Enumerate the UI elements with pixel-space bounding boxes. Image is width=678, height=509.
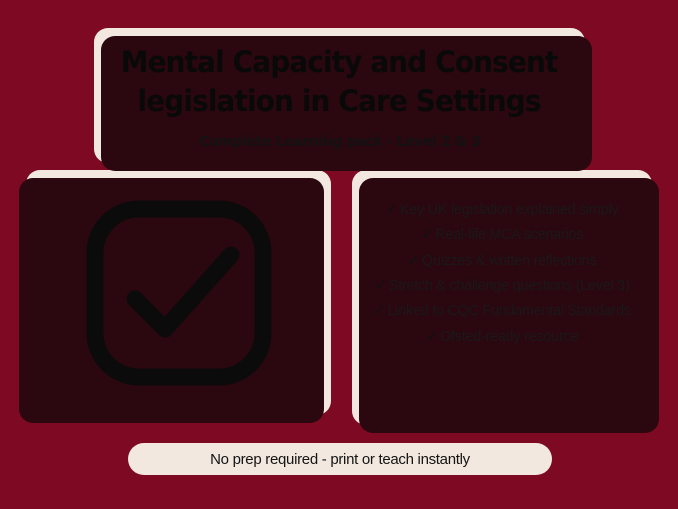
icon-card	[26, 170, 331, 415]
list-item-label: Stretch & challenge questions (Level 3)	[389, 278, 630, 294]
list-item: ✓Key UK legislation explained simply	[366, 198, 638, 221]
page-title: Mental Capacity and Consent legislation …	[121, 43, 558, 121]
checkmark-path	[135, 255, 231, 329]
title-card: Mental Capacity and Consent legislation …	[94, 28, 585, 163]
list-item-label: Key UK legislation explained simply	[400, 202, 618, 218]
list-item-label: Linked to CQC Fundamental Standards	[388, 303, 631, 319]
poster-canvas: Mental Capacity and Consent legislation …	[0, 0, 678, 509]
features-card: ✓Key UK legislation explained simply ✓Re…	[352, 170, 652, 425]
list-item-label: Ofsted-ready resource	[440, 329, 578, 345]
list-item-label: Real-life MCA scenarios	[435, 227, 583, 243]
check-icon: ✓	[386, 200, 398, 218]
page-title-line-1: Mental Capacity and Consent	[121, 45, 558, 79]
page-subtitle: Complete Learning pack - Level 2 & 3	[199, 134, 480, 150]
feature-list: ✓Key UK legislation explained simply ✓Re…	[366, 198, 638, 348]
footer-banner-label: No prep required - print or teach instan…	[210, 451, 470, 468]
checkbox-checkmark-icon	[79, 193, 279, 393]
check-icon: ✓	[408, 251, 420, 269]
check-icon: ✓	[375, 276, 387, 294]
list-item: ✓Real-life MCA scenarios	[366, 223, 638, 246]
check-icon: ✓	[421, 225, 433, 243]
list-item: ✓Ofsted-ready resource	[366, 325, 638, 348]
page-title-line-2: legislation in Care Settings	[138, 84, 541, 118]
checkbox-square-outline	[95, 209, 263, 377]
check-icon: ✓	[373, 301, 385, 319]
list-item: ✓Linked to CQC Fundamental Standards	[366, 299, 638, 322]
check-icon: ✓	[426, 327, 438, 345]
list-item: ✓Quizzes & written reflections	[366, 249, 638, 272]
footer-banner: No prep required - print or teach instan…	[128, 443, 552, 475]
list-item-label: Quizzes & written reflections	[422, 253, 596, 269]
list-item: ✓Stretch & challenge questions (Level 3)	[366, 274, 638, 297]
